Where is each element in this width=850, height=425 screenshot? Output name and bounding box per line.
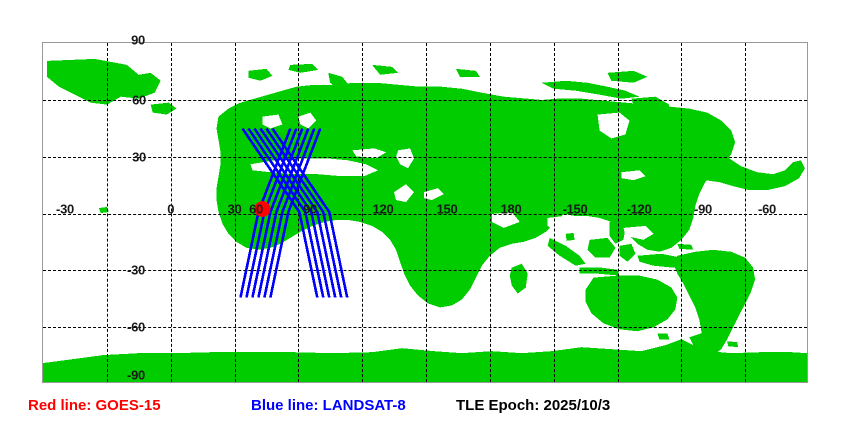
lon-label-60: 60 bbox=[249, 203, 263, 216]
lat-label-30: 30 bbox=[132, 150, 146, 163]
legend-blue-line-landsat8: Blue line: LANDSAT-8 bbox=[251, 398, 406, 413]
lon-label-90: 90 bbox=[303, 203, 317, 216]
lat-label--90: -90 bbox=[127, 369, 145, 382]
lon-label--150: -150 bbox=[563, 203, 588, 216]
lon-label-0: 0 bbox=[167, 203, 174, 216]
lat-label--60: -60 bbox=[127, 321, 145, 334]
lon-label--90: -90 bbox=[694, 203, 712, 216]
sri-lanka bbox=[566, 233, 575, 241]
lon-label--60: -60 bbox=[758, 203, 776, 216]
lat-label-60: 60 bbox=[132, 93, 146, 106]
lon-label--30: -30 bbox=[56, 203, 74, 216]
lat-label--30: -30 bbox=[127, 264, 145, 277]
legend-red-line-goes15: Red line: GOES-15 bbox=[28, 398, 161, 413]
lon-label-150: 150 bbox=[437, 203, 458, 216]
lat-label-90: 90 bbox=[131, 34, 145, 47]
lon-label-120: 120 bbox=[373, 203, 394, 216]
world-landmass-layer bbox=[43, 43, 807, 382]
legend-tle-epoch: TLE Epoch: 2025/10/3 bbox=[456, 398, 610, 413]
tasmania bbox=[657, 333, 669, 339]
figure-legend: Red line: GOES-15 Blue line: LANDSAT-8 T… bbox=[0, 394, 850, 420]
world-map-panel: 60 30 -30 -60 -90 -30 0 30 60 90 120 150… bbox=[42, 42, 808, 383]
lon-label--120: -120 bbox=[627, 203, 652, 216]
lon-label-30: 30 bbox=[228, 203, 242, 216]
lon-label-180: 180 bbox=[501, 203, 522, 216]
satellite-track-map-figure: 60 30 -30 -60 -90 -30 0 30 60 90 120 150… bbox=[0, 0, 850, 425]
